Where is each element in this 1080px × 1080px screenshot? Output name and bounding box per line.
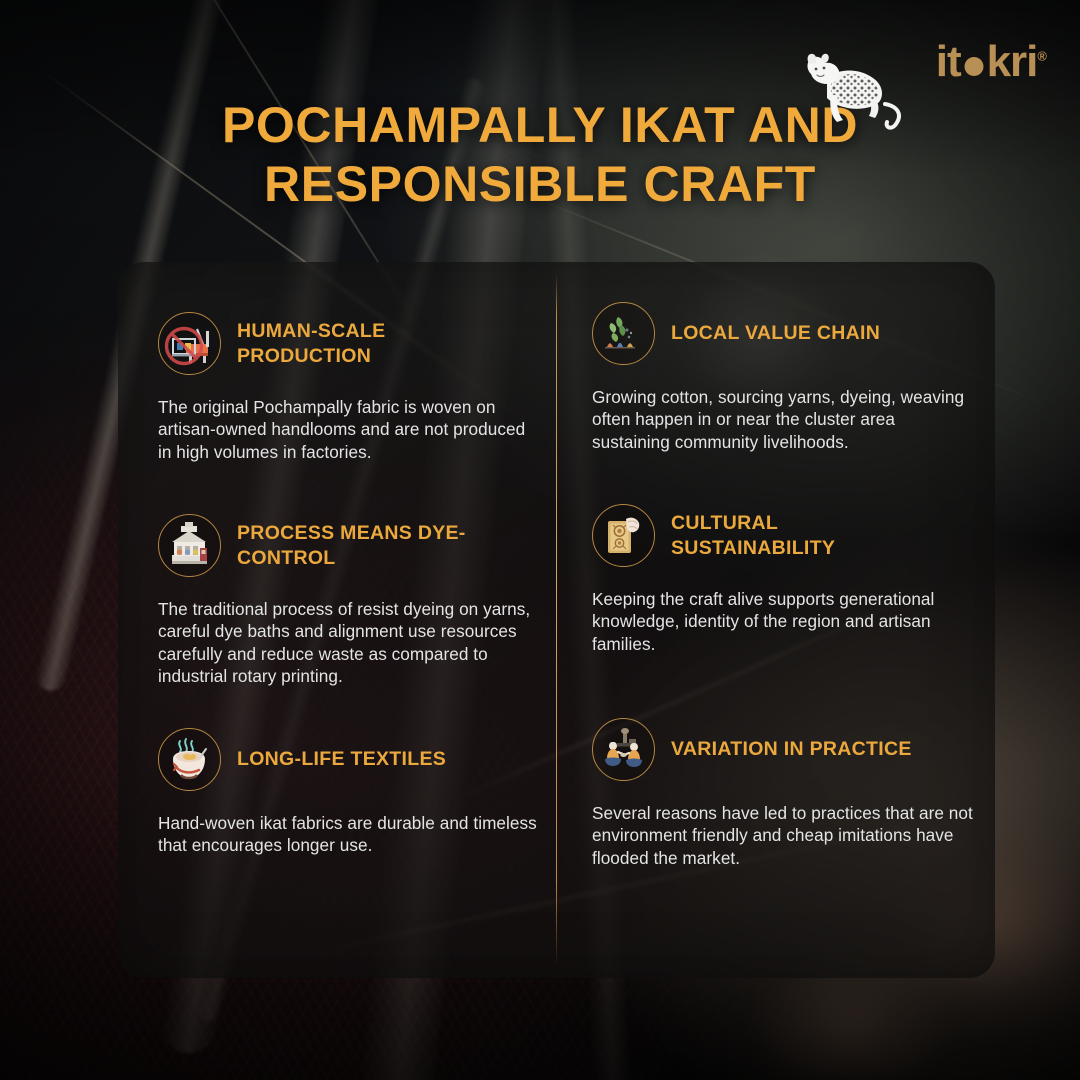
temple-building-icon (158, 514, 221, 577)
card-cultural-sustainability[interactable]: CULTURAL SUSTAINABILITY Keeping the craf… (592, 504, 984, 655)
logo-text-last: kri (987, 37, 1038, 86)
card-header: LOCAL VALUE CHAIN (592, 302, 984, 365)
content-panel: HUMAN-SCALE PRODUCTION The original Poch… (118, 262, 995, 978)
card-local-value-chain[interactable]: LOCAL VALUE CHAIN Growing cotton, sourci… (592, 302, 984, 453)
card-header: PROCESS MEANS DYE-CONTROL (158, 514, 550, 577)
hand-holding-textile-icon (592, 504, 655, 567)
card-header: VARIATION IN PRACTICE (592, 718, 984, 781)
title-line-1: POCHAMPALLY IKAT AND (0, 96, 1080, 155)
card-body: Several reasons have led to practices th… (592, 802, 974, 869)
card-process-means-dye-control[interactable]: PROCESS MEANS DYE-CONTROL The traditiona… (158, 514, 550, 687)
card-body: The original Pochampally fabric is woven… (158, 396, 542, 463)
dye-pot-steam-icon (158, 728, 221, 791)
brand-logo[interactable]: itokri® (936, 40, 1046, 84)
page-title: POCHAMPALLY IKAT AND RESPONSIBLE CRAFT (0, 96, 1080, 214)
card-header: LONG-LIFE TEXTILES (158, 728, 550, 791)
card-body: The traditional process of resist dyeing… (158, 598, 542, 687)
infographic-poster: itokri® POCHAMPALLY IKAT AND RESPONSIBLE… (0, 0, 1080, 1080)
card-body: Hand-woven ikat fabrics are durable and … (158, 812, 542, 857)
card-title: VARIATION IN PRACTICE (671, 737, 912, 762)
title-line-2: RESPONSIBLE CRAFT (0, 155, 1080, 214)
logo-text-first: it (936, 37, 961, 86)
leaves-and-pigments-icon (592, 302, 655, 365)
card-long-life-textiles[interactable]: LONG-LIFE TEXTILES Hand-woven ikat fabri… (158, 728, 550, 857)
card-title: CULTURAL SUSTAINABILITY (671, 511, 933, 561)
card-title: PROCESS MEANS DYE-CONTROL (237, 521, 499, 571)
two-seated-artisans-icon (592, 718, 655, 781)
card-title: LONG-LIFE TEXTILES (237, 747, 446, 772)
no-power-loom-icon (158, 312, 221, 375)
card-title: HUMAN-SCALE PRODUCTION (237, 319, 499, 369)
card-body: Keeping the craft alive supports generat… (592, 588, 974, 655)
card-human-scale-production[interactable]: HUMAN-SCALE PRODUCTION The original Poch… (158, 312, 550, 463)
column-divider (556, 274, 557, 966)
logo-circle-mark: o (961, 40, 987, 84)
card-header: CULTURAL SUSTAINABILITY (592, 504, 984, 567)
card-title: LOCAL VALUE CHAIN (671, 321, 880, 346)
card-body: Growing cotton, sourcing yarns, dyeing, … (592, 386, 974, 453)
registered-trademark-icon: ® (1037, 48, 1046, 63)
card-variation-in-practice[interactable]: VARIATION IN PRACTICE Several reasons ha… (592, 718, 984, 869)
card-header: HUMAN-SCALE PRODUCTION (158, 312, 550, 375)
